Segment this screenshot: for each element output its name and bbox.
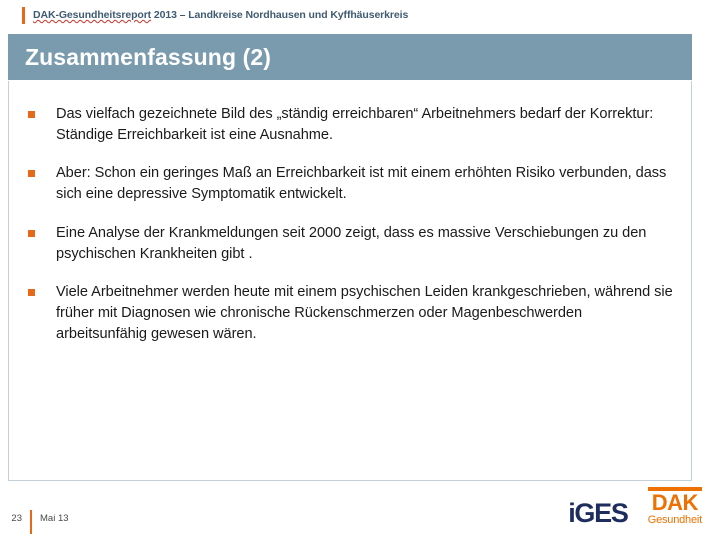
list-item-text: Aber: Schon ein geringes Maß an Erreichb… (56, 163, 677, 205)
list-item-text: Das vielfach gezeichnete Bild des „ständ… (56, 104, 677, 146)
dak-logo-word: DAK (648, 492, 702, 514)
list-item-text: Eine Analyse der Krankmeldungen seit 200… (56, 223, 677, 265)
list-item: Das vielfach gezeichnete Bild des „ständ… (28, 104, 677, 146)
footer-divider (30, 510, 32, 534)
square-bullet-icon (28, 111, 35, 118)
slide-page-number: 23 (6, 513, 22, 524)
dak-logo-subtitle: Gesundheit (648, 514, 702, 527)
slide-footer: 23 Mai 13 iGES DAK Gesundheit (0, 481, 720, 541)
slide-content-panel: Das vielfach gezeichnete Bild des „ständ… (8, 81, 692, 481)
header-report-name: DAK-Gesundheitsreport (33, 9, 151, 21)
square-bullet-icon (28, 289, 35, 296)
square-bullet-icon (28, 230, 35, 237)
list-item: Aber: Schon ein geringes Maß an Erreichb… (28, 163, 677, 205)
page-title: Zusammenfassung (2) (25, 44, 271, 71)
list-item-text: Viele Arbeitnehmer werden heute mit eine… (56, 282, 677, 345)
slide-date: Mai 13 (40, 513, 69, 524)
square-bullet-icon (28, 170, 35, 177)
bullet-list: Das vielfach gezeichnete Bild des „ständ… (9, 81, 691, 345)
iges-logo: iGES (568, 500, 627, 527)
list-item: Viele Arbeitnehmer werden heute mit eine… (28, 282, 677, 345)
header-accent-bar (22, 7, 25, 24)
list-item: Eine Analyse der Krankmeldungen seit 200… (28, 223, 677, 265)
iges-logo-suffix: GES (574, 498, 627, 528)
slide-header: DAK-Gesundheitsreport 2013 – Landkreise … (0, 0, 720, 30)
header-subtitle: DAK-Gesundheitsreport 2013 – Landkreise … (33, 9, 408, 21)
dak-logo: DAK Gesundheit (648, 487, 702, 527)
logo-group: iGES DAK Gesundheit (568, 487, 702, 527)
slide-title-bar: Zusammenfassung (2) (8, 34, 692, 80)
header-report-scope: 2013 – Landkreise Nordhausen und Kyffhäu… (151, 9, 408, 21)
footer-meta: 23 Mai 13 (6, 511, 69, 525)
